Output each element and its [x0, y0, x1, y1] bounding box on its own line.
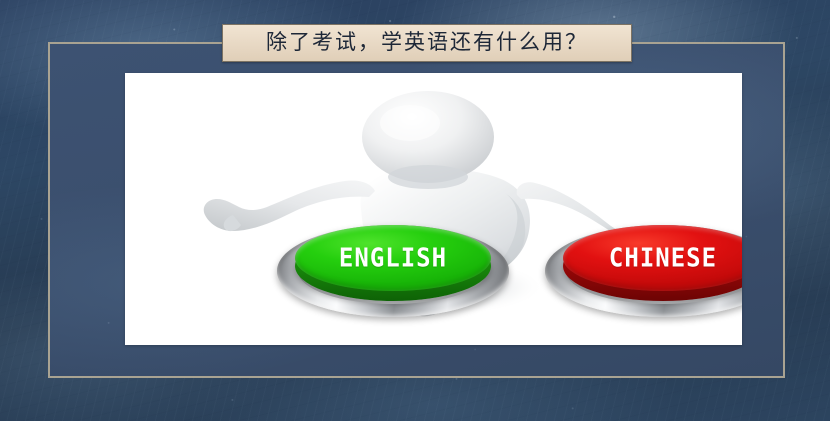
english-button-label: ENGLISH — [339, 245, 447, 271]
slide-title: 除了考试，学英语还有什么用？ — [266, 32, 588, 53]
title-banner: 除了考试，学英语还有什么用？ — [222, 24, 632, 62]
slide-canvas: 除了考试，学英语还有什么用？ — [0, 0, 830, 421]
chinese-button-label: CHINESE — [609, 245, 717, 271]
chinese-button[interactable]: CHINESE — [545, 225, 742, 317]
english-button[interactable]: ENGLISH — [277, 225, 509, 317]
illustration-plate: ENGLISH CHINESE — [125, 73, 742, 345]
english-button-cap-top[interactable]: ENGLISH — [295, 225, 491, 291]
